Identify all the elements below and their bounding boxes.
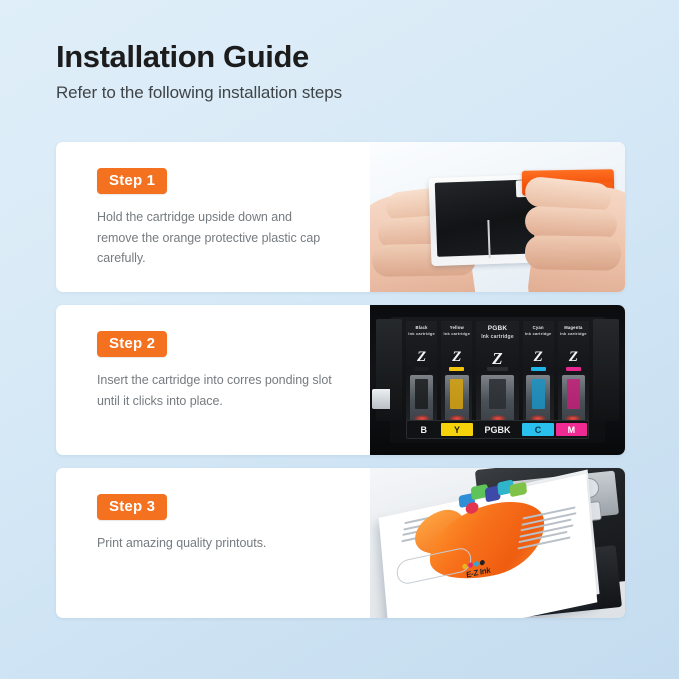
slot-chip-b: B	[408, 423, 439, 436]
step-card-1: Step 1 Hold the cartridge upside down an…	[56, 142, 625, 292]
logo-dot-black	[480, 560, 485, 566]
cartridge-label-magenta: Magenta Ink cartridge	[558, 325, 589, 336]
step-3-description: Print amazing quality printouts.	[97, 533, 335, 553]
step-2-description: Insert the cartridge into corres ponding…	[97, 370, 335, 411]
brand-z-mark: Z	[452, 350, 461, 365]
step-3-text-panel: Step 3 Print amazing quality printouts.	[56, 468, 370, 618]
cartridge-label-black: Black Ink cartridge	[406, 325, 437, 336]
step-3-badge: Step 3	[97, 494, 167, 520]
slot-chip-pgbk: PGBK	[475, 423, 521, 436]
page-title: Installation Guide	[56, 40, 616, 74]
step-card-2: Step 2 Insert the cartridge into corres …	[56, 305, 625, 455]
step-1-badge: Step 1	[97, 168, 167, 194]
installation-guide-page: Installation Guide Refer to the followin…	[0, 0, 679, 679]
cartridge-label-cyan: Cyan Ink cartridge	[523, 325, 554, 336]
cartridge-sub-black: Ink cartridge	[406, 331, 437, 336]
slot-chip-y: Y	[441, 423, 472, 436]
color-bar-pgbk	[487, 367, 507, 371]
ink-level-yellow	[450, 379, 463, 409]
ink-level-magenta	[567, 379, 580, 409]
cartridge-label-pgbk: PGBK Ink cartridge	[476, 325, 518, 341]
step-2-badge: Step 2	[97, 331, 167, 357]
color-bar-black	[414, 367, 429, 371]
color-bar-cyan	[531, 367, 546, 371]
cartridge-label-yellow: Yellow Ink cartridge	[441, 325, 472, 336]
step-3-image: E-Z Ink	[370, 468, 625, 618]
slot-color-strip: B Y PGBK C M	[406, 420, 589, 439]
cartridge-slot-magenta: Magenta Ink cartridge Z	[558, 321, 589, 425]
step-2-text-panel: Step 2 Insert the cartridge into corres …	[56, 305, 370, 455]
page-header: Installation Guide Refer to the followin…	[56, 40, 616, 103]
ink-level-black	[415, 379, 428, 409]
cartridge-slot-cyan: Cyan Ink cartridge Z	[523, 321, 554, 425]
brand-z-mark: Z	[534, 350, 543, 365]
step-2-image: Black Ink cartridge Z Yellow I	[370, 305, 625, 455]
ink-level-pgbk	[489, 379, 507, 409]
logo-dot-magenta	[468, 562, 473, 568]
color-bar-yellow	[449, 367, 464, 371]
brand-z-mark: Z	[492, 350, 502, 367]
steps-list: Step 1 Hold the cartridge upside down an…	[56, 142, 625, 631]
step-1-text-panel: Step 1 Hold the cartridge upside down an…	[56, 142, 370, 292]
carriage-arm-right	[593, 319, 619, 421]
slot-chip-m: M	[556, 423, 587, 436]
cartridge-sub-yellow: Ink cartridge	[441, 331, 472, 336]
brand-z-mark: Z	[569, 350, 578, 365]
step-1-image	[370, 142, 625, 292]
cartridge-slot-yellow: Yellow Ink cartridge Z	[441, 321, 472, 425]
cartridge-slot-pgbk: PGBK Ink cartridge Z	[476, 321, 518, 425]
logo-dot-yellow	[462, 563, 467, 569]
color-bar-magenta	[566, 367, 581, 371]
cartridge-slots: Black Ink cartridge Z Yellow I	[406, 321, 589, 425]
step-card-3: Step 3 Print amazing quality printouts.	[56, 468, 625, 618]
page-subtitle: Refer to the following installation step…	[56, 83, 616, 103]
logo-dot-cyan	[474, 561, 479, 567]
cartridge-slot-black: Black Ink cartridge Z	[406, 321, 437, 425]
carriage-white-nub	[372, 389, 390, 409]
brand-z-mark: Z	[417, 350, 426, 365]
cartridge-sub-pgbk: Ink cartridge	[476, 334, 518, 341]
step-1-description: Hold the cartridge upside down and remov…	[97, 207, 335, 268]
cartridge-name-pgbk: PGBK	[476, 325, 518, 334]
right-finger-3	[525, 235, 622, 271]
cartridge-sub-magenta: Ink cartridge	[558, 331, 589, 336]
cartridge-sub-cyan: Ink cartridge	[523, 331, 554, 336]
ink-level-cyan	[532, 379, 545, 409]
slot-chip-c: C	[522, 423, 553, 436]
